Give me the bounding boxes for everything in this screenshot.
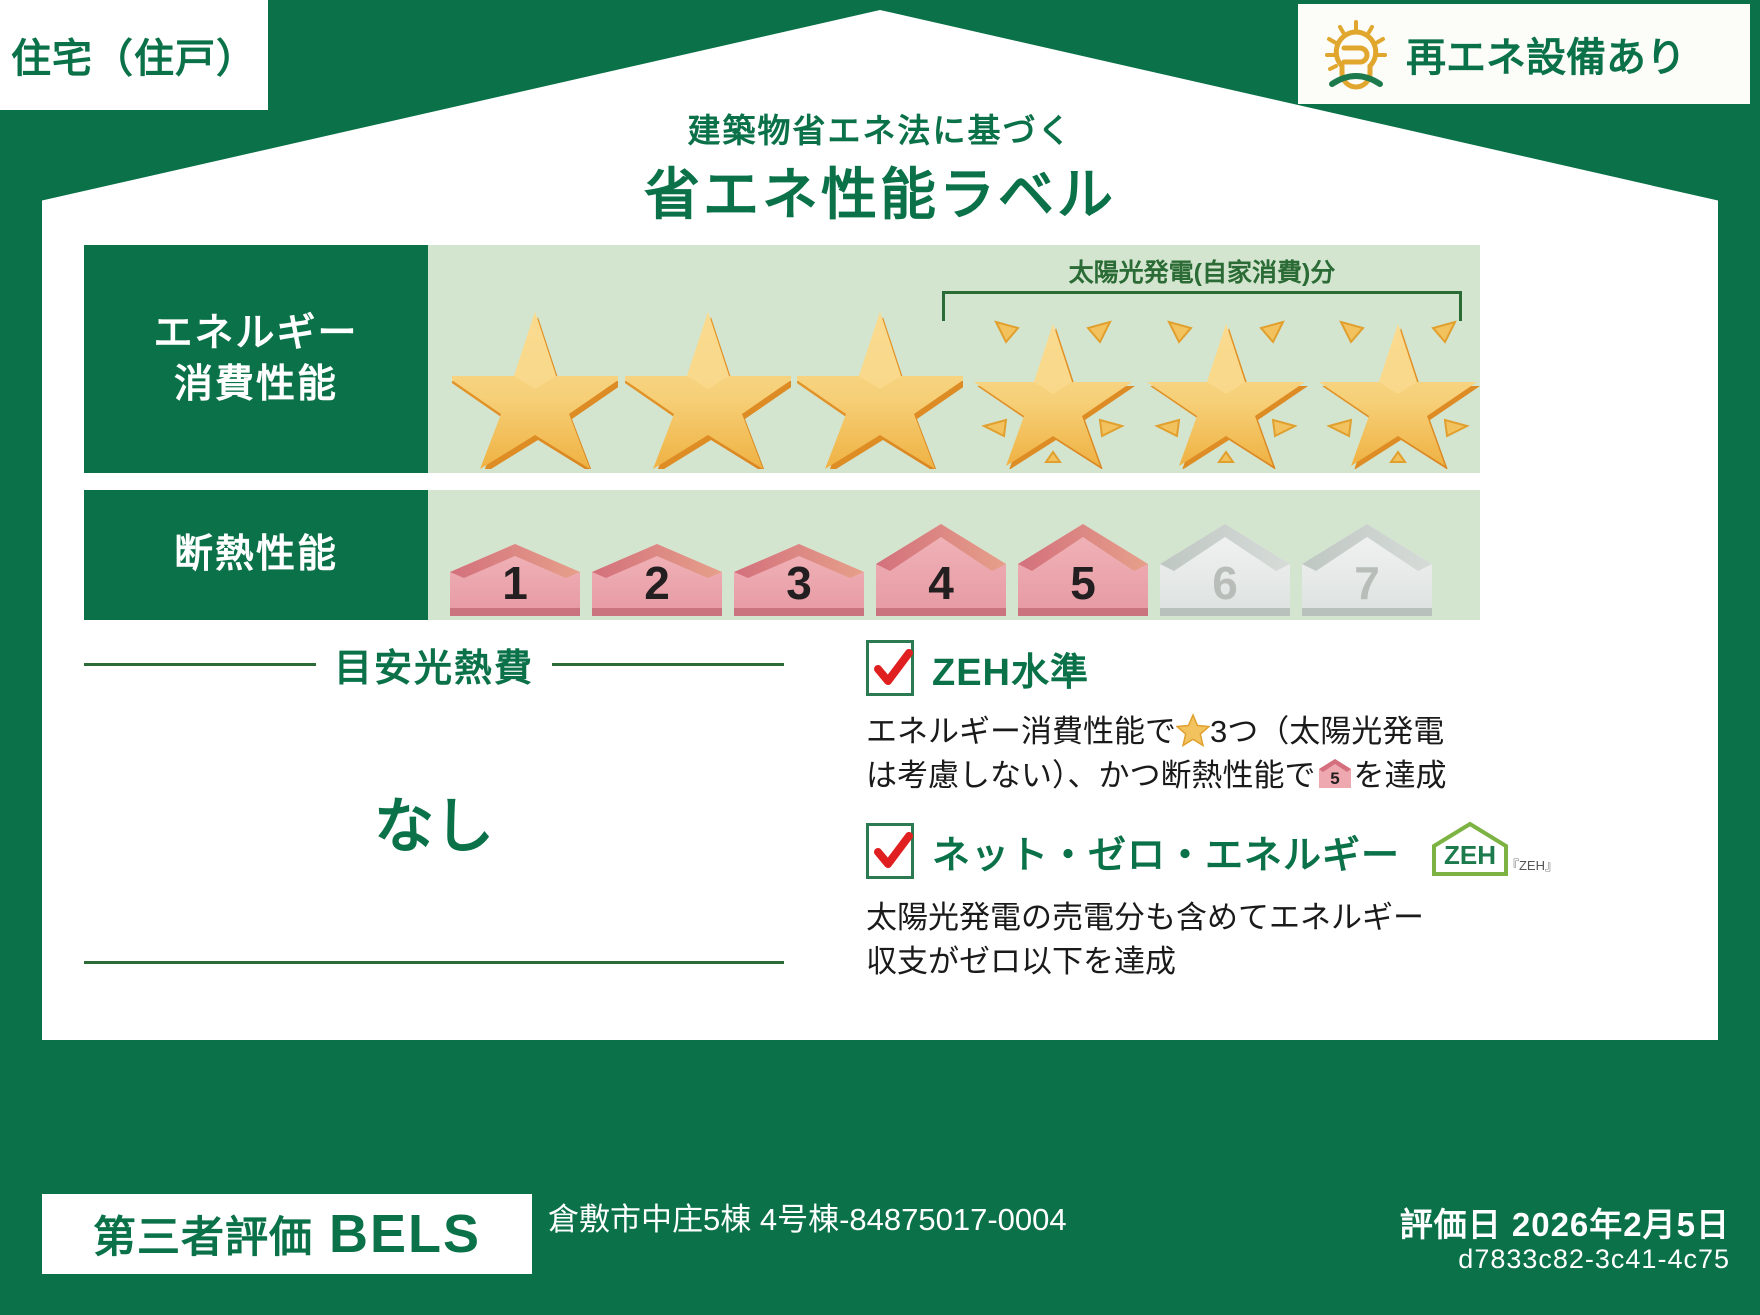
solar-portion-note: 太陽光発電(自家消費)分	[942, 253, 1462, 289]
page-title: 省エネ性能ラベル	[0, 150, 1760, 231]
svg-text:5: 5	[1330, 769, 1339, 788]
title-subtitle: 建築物省エネ法に基づく	[0, 104, 1760, 152]
insulation-level-4-number: 4	[872, 556, 1010, 610]
insulation-performance-row: 断熱性能 1	[84, 490, 1480, 620]
star-icon-2	[625, 294, 790, 469]
zeh-desc-line2-a: は考慮しない）、かつ断熱性能で	[866, 758, 1316, 793]
check-item-zeh-level-title: ZEH水準	[932, 641, 1089, 696]
insulation-level-group: 1 2 3	[428, 518, 1480, 618]
insulation-level-5-number: 5	[1014, 556, 1152, 610]
energy-performance-label-line2: 消費性能	[174, 359, 338, 410]
property-name: 倉敷市中庄5棟 4号棟-84875017-0004	[548, 1200, 1108, 1241]
insulation-level-2: 2	[588, 532, 726, 618]
evaluation-id: d7833c82-3c41-4c75	[1458, 1244, 1730, 1275]
zeh-desc-line1-a: エネルギー消費性能で	[866, 714, 1176, 749]
zeh-logo-icon: ZEH 『ZEH』	[1426, 820, 1556, 882]
badge-renewable-equipment: 再エネ設備あり	[1298, 4, 1750, 104]
bels-certification-plate: 第三者評価 BELS	[42, 1194, 532, 1274]
third-party-label: 第三者評価	[93, 1203, 313, 1265]
check-item-zeh-level-desc: エネルギー消費性能で3つ（太陽光発電 は考慮しない）、かつ断熱性能で5を達成	[866, 710, 1486, 798]
insulation-level-6: 6	[1156, 518, 1294, 618]
utility-bottom-rule	[84, 961, 784, 964]
nze-desc-line2: 収支がゼロ以下を達成	[866, 944, 1176, 979]
insulation-level-3: 3	[730, 532, 868, 618]
insulation-level-1: 1	[446, 532, 584, 618]
energy-performance-row: エネルギー 消費性能 太陽光発電(自家消費)分	[84, 245, 1480, 473]
svg-text:『ZEH』: 『ZEH』	[1506, 858, 1556, 873]
checkbox-net-zero-energy[interactable]	[866, 823, 914, 879]
insulation-level-4: 4	[872, 518, 1010, 618]
badge-building-type: 住宅（住戸）	[0, 0, 268, 110]
energy-performance-label-line1: エネルギー	[153, 308, 358, 359]
badge-building-type-label: 住宅（住戸）	[11, 26, 257, 84]
zeh-desc-line2-b: を達成	[1354, 758, 1447, 793]
energy-performance-stars-area: 太陽光発電(自家消費)分	[428, 245, 1480, 473]
svg-text:ZEH: ZEH	[1444, 840, 1496, 870]
star-icon-5-solar	[1143, 294, 1308, 469]
utility-cost-value: なし	[84, 688, 784, 961]
inline-house-level-icon: 5	[1316, 757, 1354, 791]
certification-checklist: ZEH水準 エネルギー消費性能で3つ（太陽光発電 は考慮しない）、かつ断熱性能で…	[866, 640, 1486, 1006]
checkmark-icon	[873, 649, 913, 691]
badge-renewable-label: 再エネ設備あり	[1406, 25, 1686, 83]
energy-performance-label: エネルギー 消費性能	[84, 245, 428, 473]
evaluation-date-value: 2026年2月5日	[1512, 1206, 1730, 1243]
bels-logo-text: BELS	[329, 1203, 481, 1265]
insulation-levels-area: 1 2 3	[428, 490, 1480, 620]
inline-star-icon	[1176, 713, 1210, 747]
check-item-net-zero-energy-title: ネット・ゼロ・エネルギー	[932, 824, 1400, 879]
star-icon-1	[452, 294, 617, 469]
check-item-net-zero-energy-desc: 太陽光発電の売電分も含めてエネルギー 収支がゼロ以下を達成	[866, 896, 1486, 984]
sun-plug-icon	[1320, 18, 1392, 90]
evaluation-date: 評価日 2026年2月5日	[1400, 1198, 1730, 1246]
insulation-level-6-number: 6	[1156, 556, 1294, 610]
zeh-desc-line1-b: 3つ（太陽光発電	[1210, 714, 1444, 749]
utility-cost-heading: 目安光熱費	[84, 640, 784, 688]
utility-heading-rule-left	[84, 663, 316, 666]
star-icon-3	[797, 294, 962, 469]
star-icon-4-solar	[970, 294, 1135, 469]
checkmark-icon	[873, 832, 913, 874]
checkbox-zeh-level[interactable]	[866, 640, 914, 696]
evaluation-date-label: 評価日	[1400, 1206, 1502, 1243]
insulation-level-7-number: 7	[1298, 556, 1436, 610]
utility-cost-block: 目安光熱費 なし	[84, 640, 784, 964]
check-item-zeh-level[interactable]: ZEH水準	[866, 640, 1486, 696]
star-icon-6-solar	[1315, 294, 1480, 469]
check-item-net-zero-energy[interactable]: ネット・ゼロ・エネルギー ZEH 『ZEH』	[866, 820, 1486, 882]
insulation-level-1-number: 1	[446, 556, 584, 610]
nze-desc-line1: 太陽光発電の売電分も含めてエネルギー	[866, 900, 1424, 935]
utility-cost-heading-label: 目安光熱費	[316, 637, 552, 692]
insulation-performance-label: 断熱性能	[84, 490, 428, 620]
utility-heading-rule-right	[552, 663, 784, 666]
insulation-level-3-number: 3	[730, 556, 868, 610]
insulation-level-7: 7	[1298, 518, 1436, 618]
footer-bar: 第三者評価 BELS 倉敷市中庄5棟 4号棟-84875017-0004 評価日…	[0, 1180, 1760, 1315]
insulation-level-5: 5	[1014, 518, 1152, 618]
star-rating-group	[428, 294, 1480, 469]
insulation-level-2-number: 2	[588, 556, 726, 610]
